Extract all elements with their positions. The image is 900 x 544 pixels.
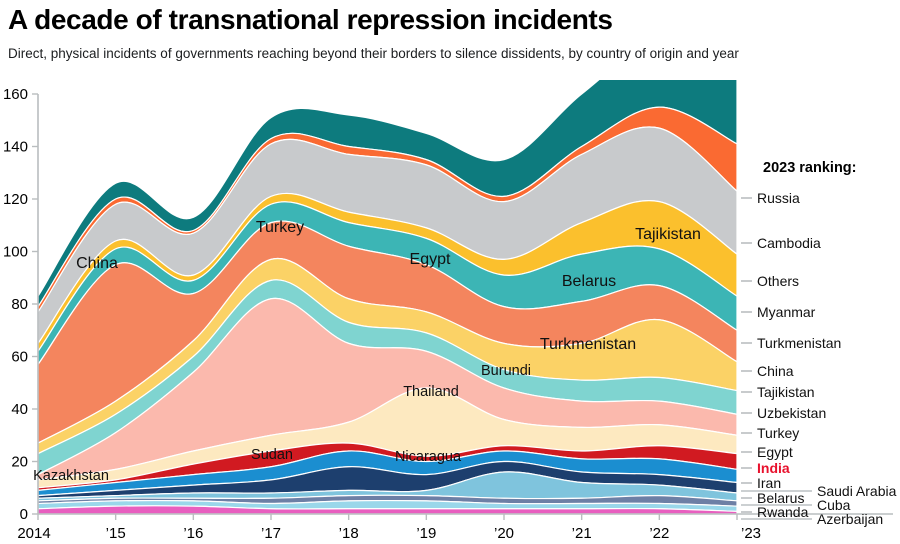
y-tick-label: 20: [11, 454, 28, 471]
x-tick-label: ’21: [572, 525, 592, 542]
y-tick-label: 40: [11, 401, 28, 418]
x-tick-label: ’19: [416, 525, 436, 542]
ranking-legend: 2023 ranking: RussiaCambodiaOthersMyanma…: [741, 160, 897, 527]
page-title: A decade of transnational repression inc…: [8, 4, 613, 36]
legend-label-china[interactable]: China: [757, 363, 794, 379]
legend-label-uzbekistan[interactable]: Uzbekistan: [757, 405, 826, 421]
series-inline-label-sudan: Sudan: [251, 447, 293, 463]
legend-label-iran[interactable]: Iran: [757, 475, 781, 491]
y-tick-label: 60: [11, 349, 28, 366]
legend-label-turkmenistan[interactable]: Turkmenistan: [757, 335, 841, 351]
legend-label-turkey[interactable]: Turkey: [757, 425, 799, 441]
x-tick-label: ’17: [261, 525, 281, 542]
x-tick-label: ’20: [494, 525, 514, 542]
y-tick-label: 140: [3, 139, 28, 156]
ranking-heading: 2023 ranking:: [763, 160, 857, 176]
legend-label-india[interactable]: India: [757, 460, 790, 476]
series-inline-label-tajikistan: Tajikistan: [635, 226, 701, 243]
legend-label-myanmar[interactable]: Myanmar: [757, 304, 816, 320]
y-tick-label: 100: [3, 244, 28, 261]
chart-page: A decade of transnational repression inc…: [0, 0, 900, 544]
legend-label-egypt[interactable]: Egypt: [757, 444, 793, 460]
y-tick-label: 160: [3, 86, 28, 103]
series-inline-label-egypt: Egypt: [410, 251, 451, 268]
legend-label-others[interactable]: Others: [757, 273, 799, 289]
x-tick-label: 2014: [17, 525, 50, 542]
series-inline-label-turkey: Turkey: [256, 219, 304, 236]
y-tick-label: 80: [11, 296, 28, 313]
page-subtitle: Direct, physical incidents of government…: [8, 46, 739, 61]
chart-bands-group: [38, 80, 737, 514]
series-inline-label-china: China: [76, 255, 118, 272]
x-tick-label: ’23: [741, 525, 761, 542]
x-tick-label: ’15: [106, 525, 126, 542]
x-tick-label: ’18: [339, 525, 359, 542]
stream-chart-svg: 0204060801001201401602014’15’16’17’18’19…: [0, 80, 900, 544]
y-tick-label: 0: [20, 506, 28, 523]
series-inline-label-turkmenistan: Turkmenistan: [540, 336, 636, 353]
y-tick-label: 120: [3, 191, 28, 208]
legend-label-azerbaijan[interactable]: Azerbaijan: [817, 511, 883, 527]
legend-label-tajikistan[interactable]: Tajikistan: [757, 384, 815, 400]
legend-label-russia[interactable]: Russia: [757, 190, 800, 206]
series-inline-label-thailand: Thailand: [403, 384, 459, 400]
series-inline-label-burundi: Burundi: [481, 363, 531, 379]
series-inline-label-nicaragua: Nicaragua: [395, 449, 462, 465]
stream-chart: 0204060801001201401602014’15’16’17’18’19…: [0, 80, 900, 544]
x-tick-label: ’22: [649, 525, 669, 542]
series-inline-label-kazakhstan: Kazakhstan: [33, 468, 109, 484]
series-inline-label-belarus: Belarus: [562, 273, 616, 290]
legend-label-cambodia[interactable]: Cambodia: [757, 235, 821, 251]
x-tick-label: ’16: [183, 525, 203, 542]
legend-label-rwanda[interactable]: Rwanda: [757, 504, 809, 520]
